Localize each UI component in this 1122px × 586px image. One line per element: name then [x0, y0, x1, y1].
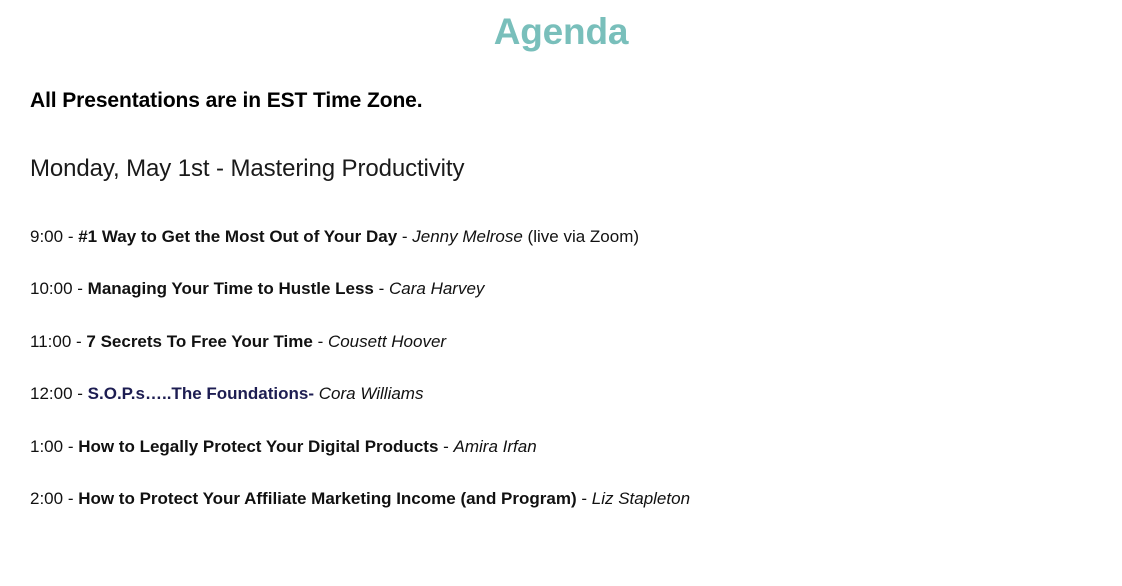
session-row: 10:00 - Managing Your Time to Hustle Les… [30, 280, 1122, 333]
session-separator: - [63, 489, 78, 508]
session-speaker: Jenny Melrose [412, 227, 523, 246]
page-title: Agenda [0, 0, 1122, 52]
session-note: (live via Zoom) [523, 227, 639, 246]
session-speaker: Cora Williams [319, 384, 424, 403]
session-speaker: Cara Harvey [389, 279, 484, 298]
session-row: 2:00 - How to Protect Your Affiliate Mar… [30, 490, 1122, 543]
session-topic: How to Protect Your Affiliate Marketing … [78, 489, 576, 508]
agenda-page: Agenda All Presentations are in EST Time… [0, 0, 1122, 586]
session-row: 9:00 - #1 Way to Get the Most Out of You… [30, 228, 1122, 281]
session-separator: - [63, 437, 78, 456]
session-time: 2:00 [30, 489, 63, 508]
session-separator-2: - [397, 227, 412, 246]
session-separator: - [73, 384, 88, 403]
session-topic: How to Legally Protect Your Digital Prod… [78, 437, 438, 456]
session-separator-2: - [577, 489, 592, 508]
session-separator-2: - [313, 332, 328, 351]
session-separator-2: - [438, 437, 453, 456]
session-separator: - [71, 332, 86, 351]
session-speaker: Cousett Hoover [328, 332, 446, 351]
session-row: 1:00 - How to Legally Protect Your Digit… [30, 438, 1122, 491]
session-speaker: Amira Irfan [454, 437, 537, 456]
session-speaker: Liz Stapleton [592, 489, 690, 508]
session-time: 11:00 [30, 332, 71, 351]
day-heading: Monday, May 1st - Mastering Productivity [0, 113, 1122, 183]
session-time: 10:00 [30, 279, 73, 298]
session-row: 11:00 - 7 Secrets To Free Your Time - Co… [30, 333, 1122, 386]
session-topic: 7 Secrets To Free Your Time [86, 332, 312, 351]
session-separator: - [73, 279, 88, 298]
session-separator: - [63, 227, 78, 246]
session-list: 9:00 - #1 Way to Get the Most Out of You… [0, 183, 1122, 543]
session-time: 12:00 [30, 384, 73, 403]
timezone-notice: All Presentations are in EST Time Zone. [0, 52, 1122, 113]
session-time: 1:00 [30, 437, 63, 456]
session-topic: S.O.P.s…..The Foundations- [88, 384, 314, 403]
session-time: 9:00 [30, 227, 63, 246]
session-topic: #1 Way to Get the Most Out of Your Day [78, 227, 397, 246]
session-separator-2: - [374, 279, 389, 298]
session-row: 12:00 - S.O.P.s…..The Foundations- Cora … [30, 385, 1122, 438]
session-topic: Managing Your Time to Hustle Less [88, 279, 374, 298]
